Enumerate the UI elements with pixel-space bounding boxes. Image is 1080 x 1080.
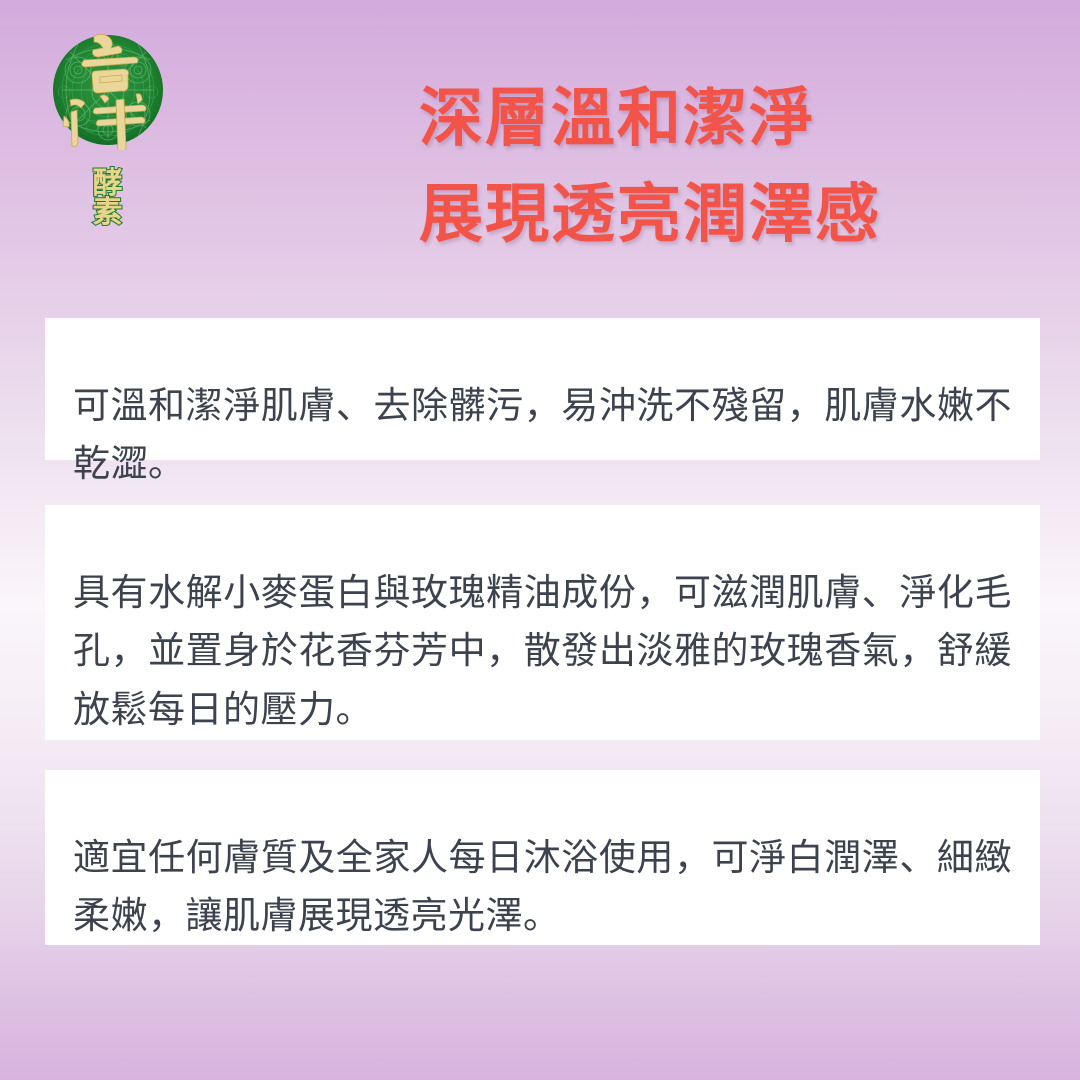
logo-sub-char-2: 素 <box>40 199 175 228</box>
info-panel-1: 可溫和潔淨肌膚、去除髒污，易沖洗不殘留，肌膚水嫩不乾澀。 <box>45 318 1040 460</box>
info-panel-2: 具有水解小麥蛋白與玫瑰精油成份，可滋潤肌膚、淨化毛孔，並置身於花香芬芳中，散發出… <box>45 505 1040 740</box>
headline-line-1: 深層溫和潔淨 <box>270 71 990 167</box>
headline-line-2: 展現透亮潤澤感 <box>270 167 990 263</box>
info-panel-3: 適宜任何膚質及全家人每日沐浴使用，可淨白潤澤、細緻柔嫩，讓肌膚展現透亮光澤。 <box>45 770 1040 945</box>
circular-seal-icon <box>48 30 168 150</box>
info-panel-2-text: 具有水解小麥蛋白與玫瑰精油成份，可滋潤肌膚、淨化毛孔，並置身於花香芬芳中，散發出… <box>73 564 1012 739</box>
brand-logo-subtitle: 酵 素 <box>40 170 175 228</box>
poster-canvas: 酵 素 深層溫和潔淨 展現透亮潤澤感 可溫和潔淨肌膚、去除髒污，易沖洗不殘留，肌… <box>0 0 1080 1080</box>
brand-logo: 酵 素 <box>40 22 175 257</box>
headline: 深層溫和潔淨 展現透亮潤澤感 <box>270 71 990 263</box>
info-panel-3-text: 適宜任何膚質及全家人每日沐浴使用，可淨白潤澤、細緻柔嫩，讓肌膚展現透亮光澤。 <box>73 829 1012 946</box>
info-panel-1-text: 可溫和潔淨肌膚、去除髒污，易沖洗不殘留，肌膚水嫩不乾澀。 <box>73 377 1012 494</box>
